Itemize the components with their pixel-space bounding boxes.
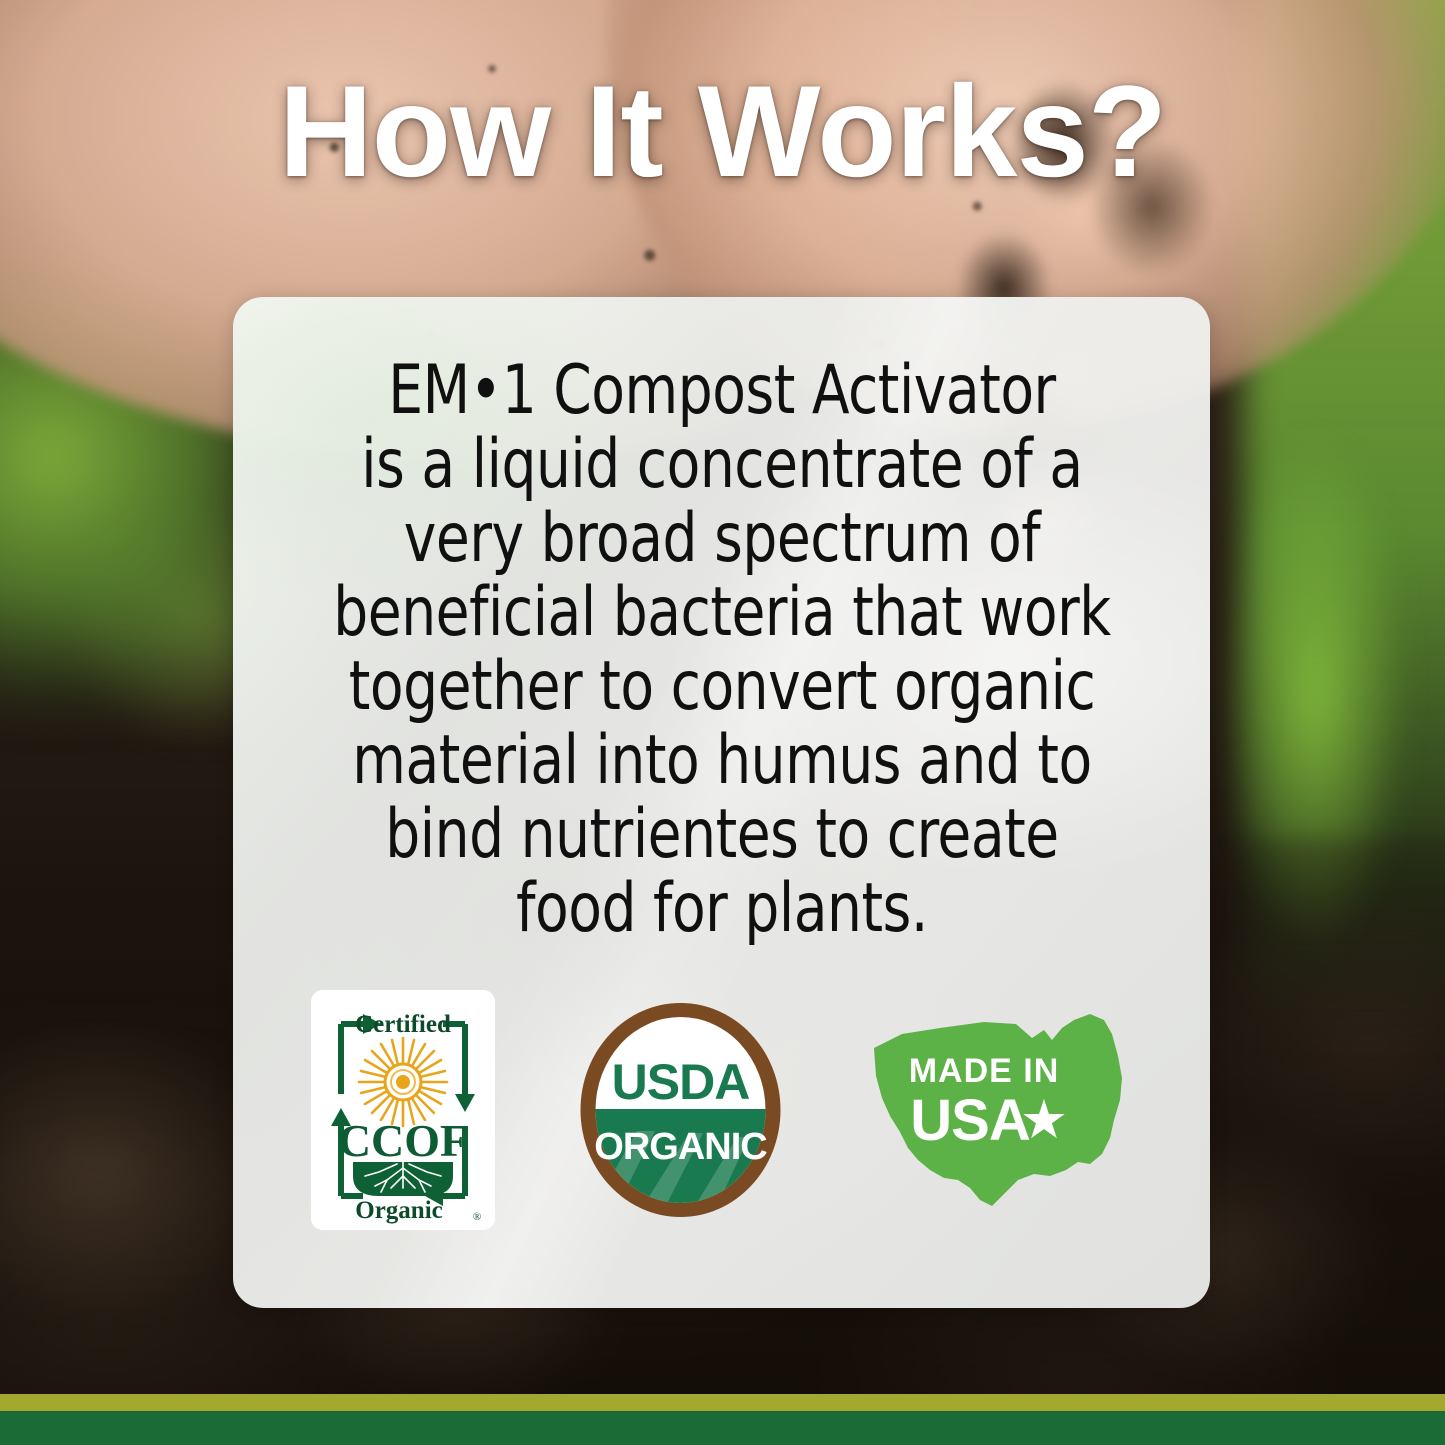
description-paragraph: EM•1 Compost Activator is a liquid conce… [326, 354, 1118, 946]
paragraph-line: bind nutrientes to create [326, 798, 1118, 872]
usda-organic-badge: USDA ORGANIC [577, 1001, 784, 1219]
registered-mark-icon: ® [473, 1211, 481, 1223]
usda-line-1: USDA [612, 1054, 750, 1110]
paragraph-line: food for plants. [326, 872, 1118, 946]
made-in-label: MADE IN [909, 1052, 1060, 1090]
certification-badge-row: Certified [233, 990, 1210, 1230]
footer-olive-bar [0, 1394, 1445, 1411]
ccof-top-label: Certified [355, 1011, 451, 1038]
paragraph-line: together to convert organic [326, 650, 1118, 724]
made-in-usa-badge: MADE IN USA ★ [866, 1004, 1132, 1216]
paragraph-line: is a liquid concentrate of a [326, 428, 1118, 502]
footer-green-bar [0, 1411, 1445, 1445]
paragraph-line: material into humus and to [326, 724, 1118, 798]
info-card: EM•1 Compost Activator is a liquid conce… [233, 297, 1210, 1308]
ccof-bottom-label: Organic [355, 1197, 443, 1224]
paragraph-line: EM•1 Compost Activator [326, 354, 1118, 428]
promo-image: How It Works? EM•1 Compost Activator is … [0, 0, 1445, 1445]
paragraph-line: beneficial bacteria that work [326, 576, 1118, 650]
roots-bowl-icon [353, 1162, 453, 1196]
star-icon: ★ [1020, 1088, 1068, 1151]
paragraph-line: very broad spectrum of [326, 502, 1118, 576]
ccof-certified-organic-badge: Certified [311, 990, 495, 1230]
page-title: How It Works? [0, 66, 1445, 196]
sunflower-icon [359, 1038, 447, 1126]
ccof-acronym: CCOF [338, 1115, 468, 1166]
usa-label: USA [910, 1088, 1030, 1153]
usda-line-2: ORGANIC [594, 1126, 767, 1168]
